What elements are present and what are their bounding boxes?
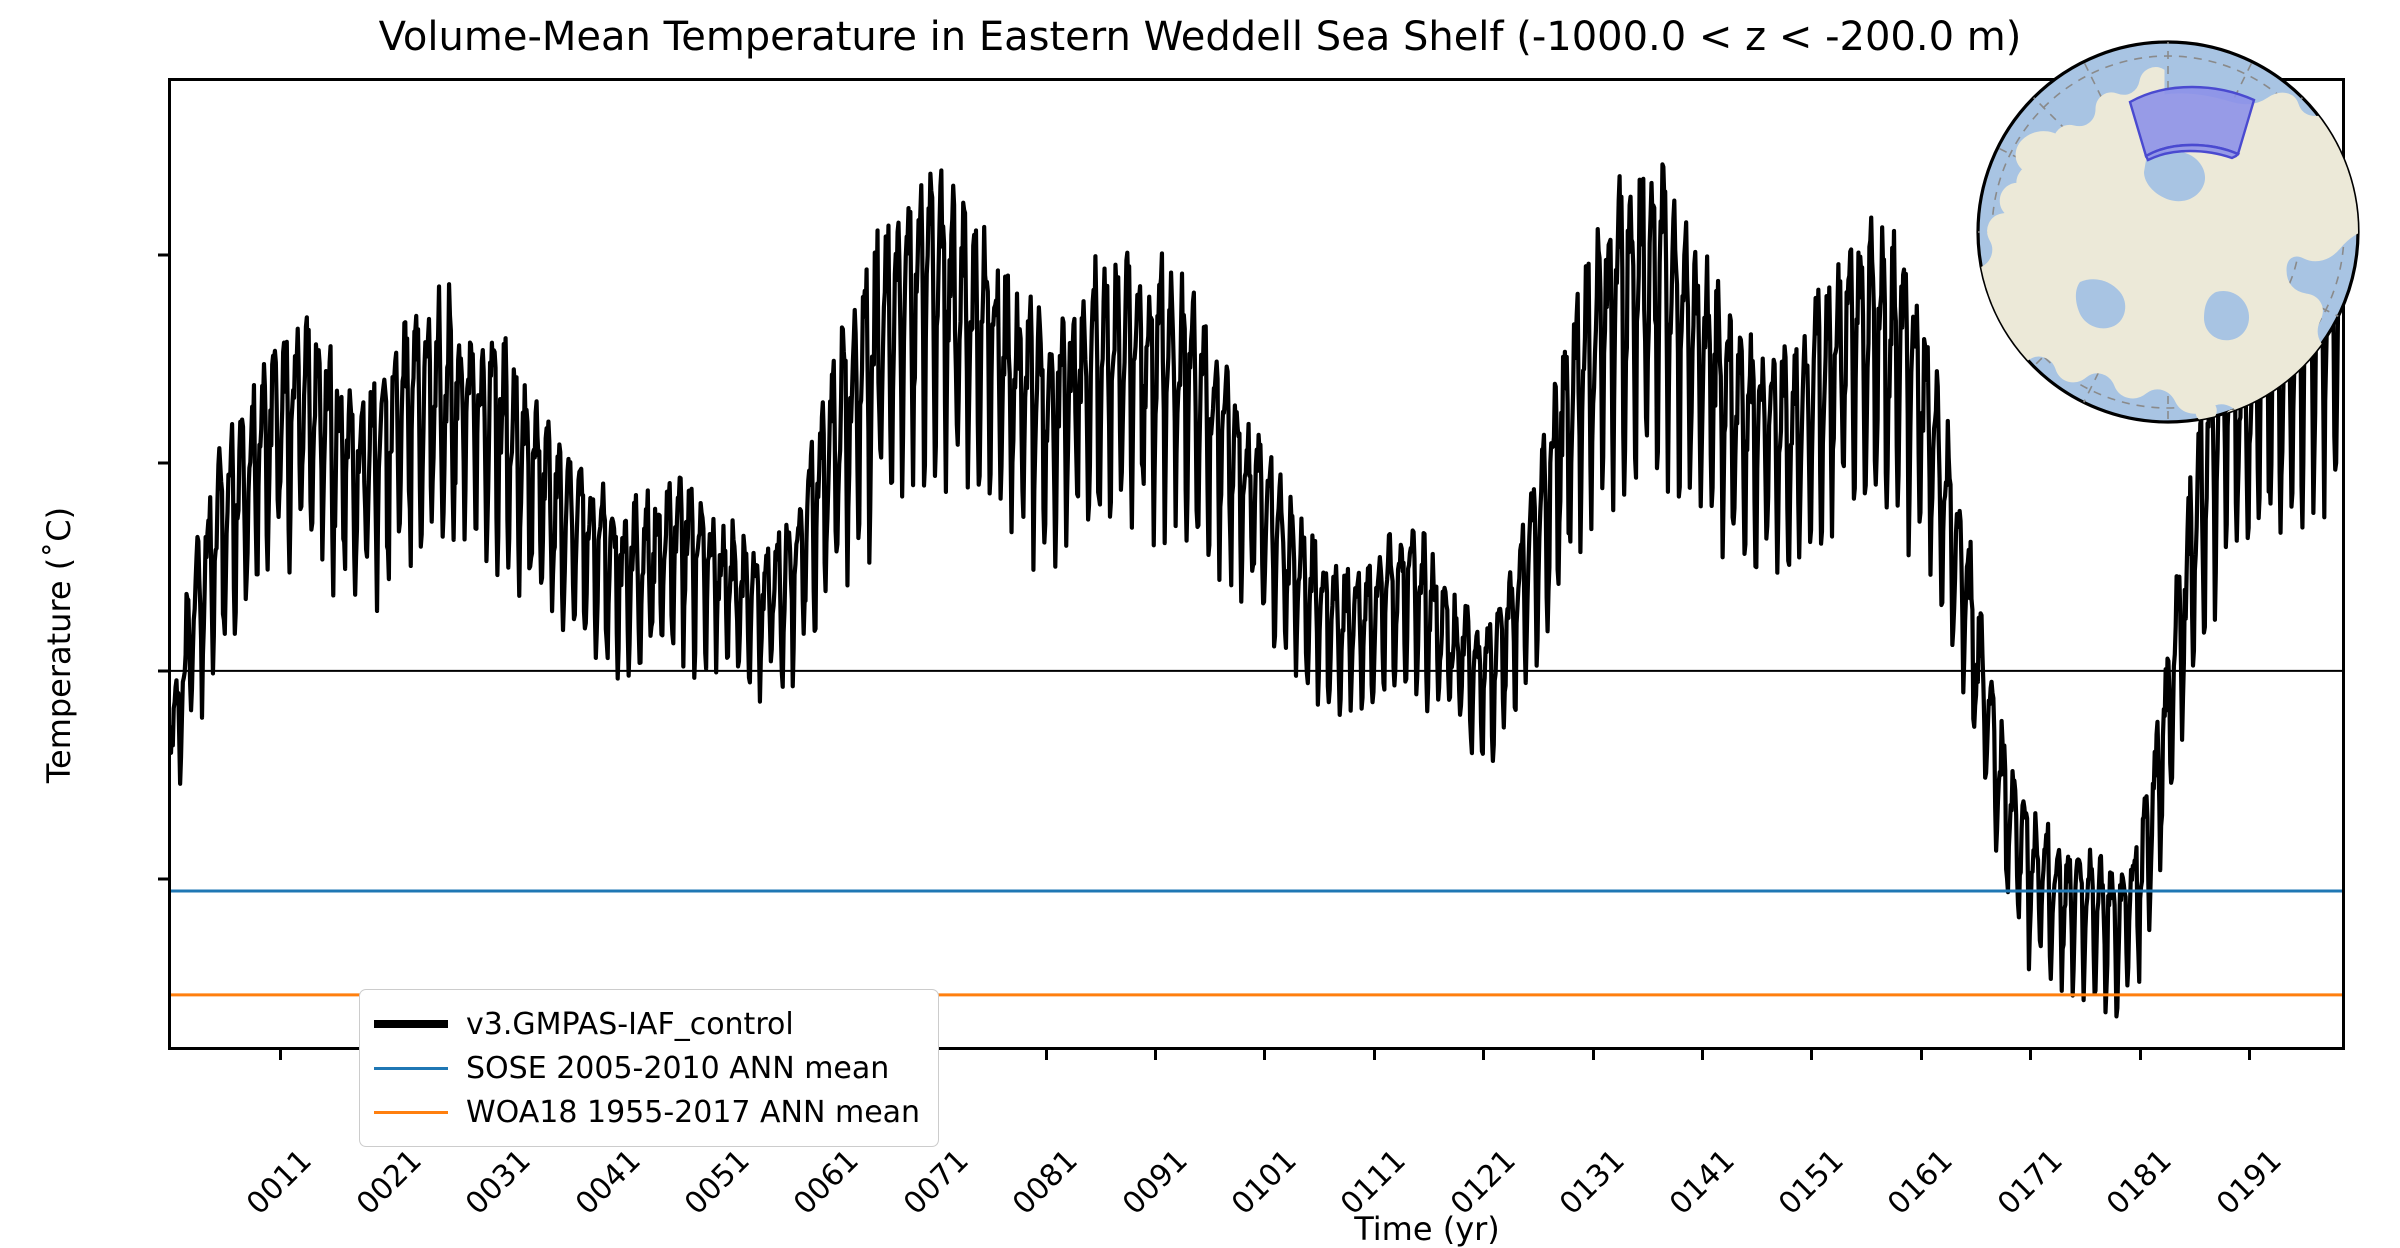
- x-tick-mark: [1154, 1047, 1157, 1060]
- y-tick-mark: [158, 462, 171, 465]
- x-tick-mark: [1592, 1047, 1595, 1060]
- y-tick-mark: [158, 877, 171, 880]
- legend-color-swatch: [374, 1111, 448, 1114]
- legend-item[interactable]: v3.GMPAS-IAF_control: [374, 1002, 920, 1046]
- x-tick-label: 0031: [459, 1143, 538, 1222]
- legend-item[interactable]: WOA18 1955-2017 ANN mean: [374, 1090, 920, 1134]
- x-tick-mark: [279, 1047, 282, 1060]
- x-tick-mark: [2248, 1047, 2251, 1060]
- x-tick-label: 0141: [1663, 1143, 1742, 1222]
- figure: Volume-Mean Temperature in Eastern Wedde…: [0, 0, 2400, 1200]
- x-tick-mark: [1482, 1047, 1485, 1060]
- x-tick-label: 0191: [2210, 1143, 2289, 1222]
- legend-color-swatch: [374, 1020, 448, 1028]
- x-tick-mark: [1701, 1047, 1704, 1060]
- chart-legend[interactable]: v3.GMPAS-IAF_controlSOSE 2005-2010 ANN m…: [359, 989, 939, 1147]
- x-tick-mark: [1263, 1047, 1266, 1060]
- x-tick-mark: [2139, 1047, 2142, 1060]
- legend-label: WOA18 1955-2017 ANN mean: [466, 1095, 920, 1130]
- x-tick-label: 0021: [350, 1143, 429, 1222]
- x-tick-label: 0131: [1553, 1143, 1632, 1222]
- x-tick-mark: [1045, 1047, 1048, 1060]
- x-tick-label: 0101: [1225, 1143, 1304, 1222]
- x-tick-label: 0081: [1006, 1143, 1085, 1222]
- x-tick-mark: [1373, 1047, 1376, 1060]
- legend-item[interactable]: SOSE 2005-2010 ANN mean: [374, 1046, 920, 1090]
- y-tick-mark: [158, 254, 171, 257]
- y-tick-mark: [158, 669, 171, 672]
- legend-label: v3.GMPAS-IAF_control: [466, 1007, 794, 1042]
- x-tick-mark: [1810, 1047, 1813, 1060]
- x-tick-label: 0171: [1991, 1143, 2070, 1222]
- x-tick-mark: [1920, 1047, 1923, 1060]
- x-tick-label: 0061: [787, 1143, 866, 1222]
- x-tick-label: 0151: [1772, 1143, 1851, 1222]
- map-highlight-region-eastern-weddell-shelf: [2130, 87, 2254, 160]
- x-tick-mark: [2029, 1047, 2032, 1060]
- x-tick-label: 0071: [897, 1143, 976, 1222]
- x-tick-label: 0161: [1881, 1143, 1960, 1222]
- x-tick-label: 0011: [240, 1143, 319, 1222]
- antarctic-locator-map: [1968, 32, 2368, 432]
- legend-color-swatch: [374, 1067, 448, 1070]
- x-tick-label: 0041: [569, 1143, 648, 1222]
- y-axis-label: Temperature (˚C): [40, 507, 78, 783]
- x-tick-label: 0091: [1116, 1143, 1195, 1222]
- x-axis-label: Time (yr): [1354, 1210, 1500, 1248]
- legend-label: SOSE 2005-2010 ANN mean: [466, 1051, 889, 1086]
- x-tick-label: 0051: [678, 1143, 757, 1222]
- x-tick-label: 0181: [2100, 1143, 2179, 1222]
